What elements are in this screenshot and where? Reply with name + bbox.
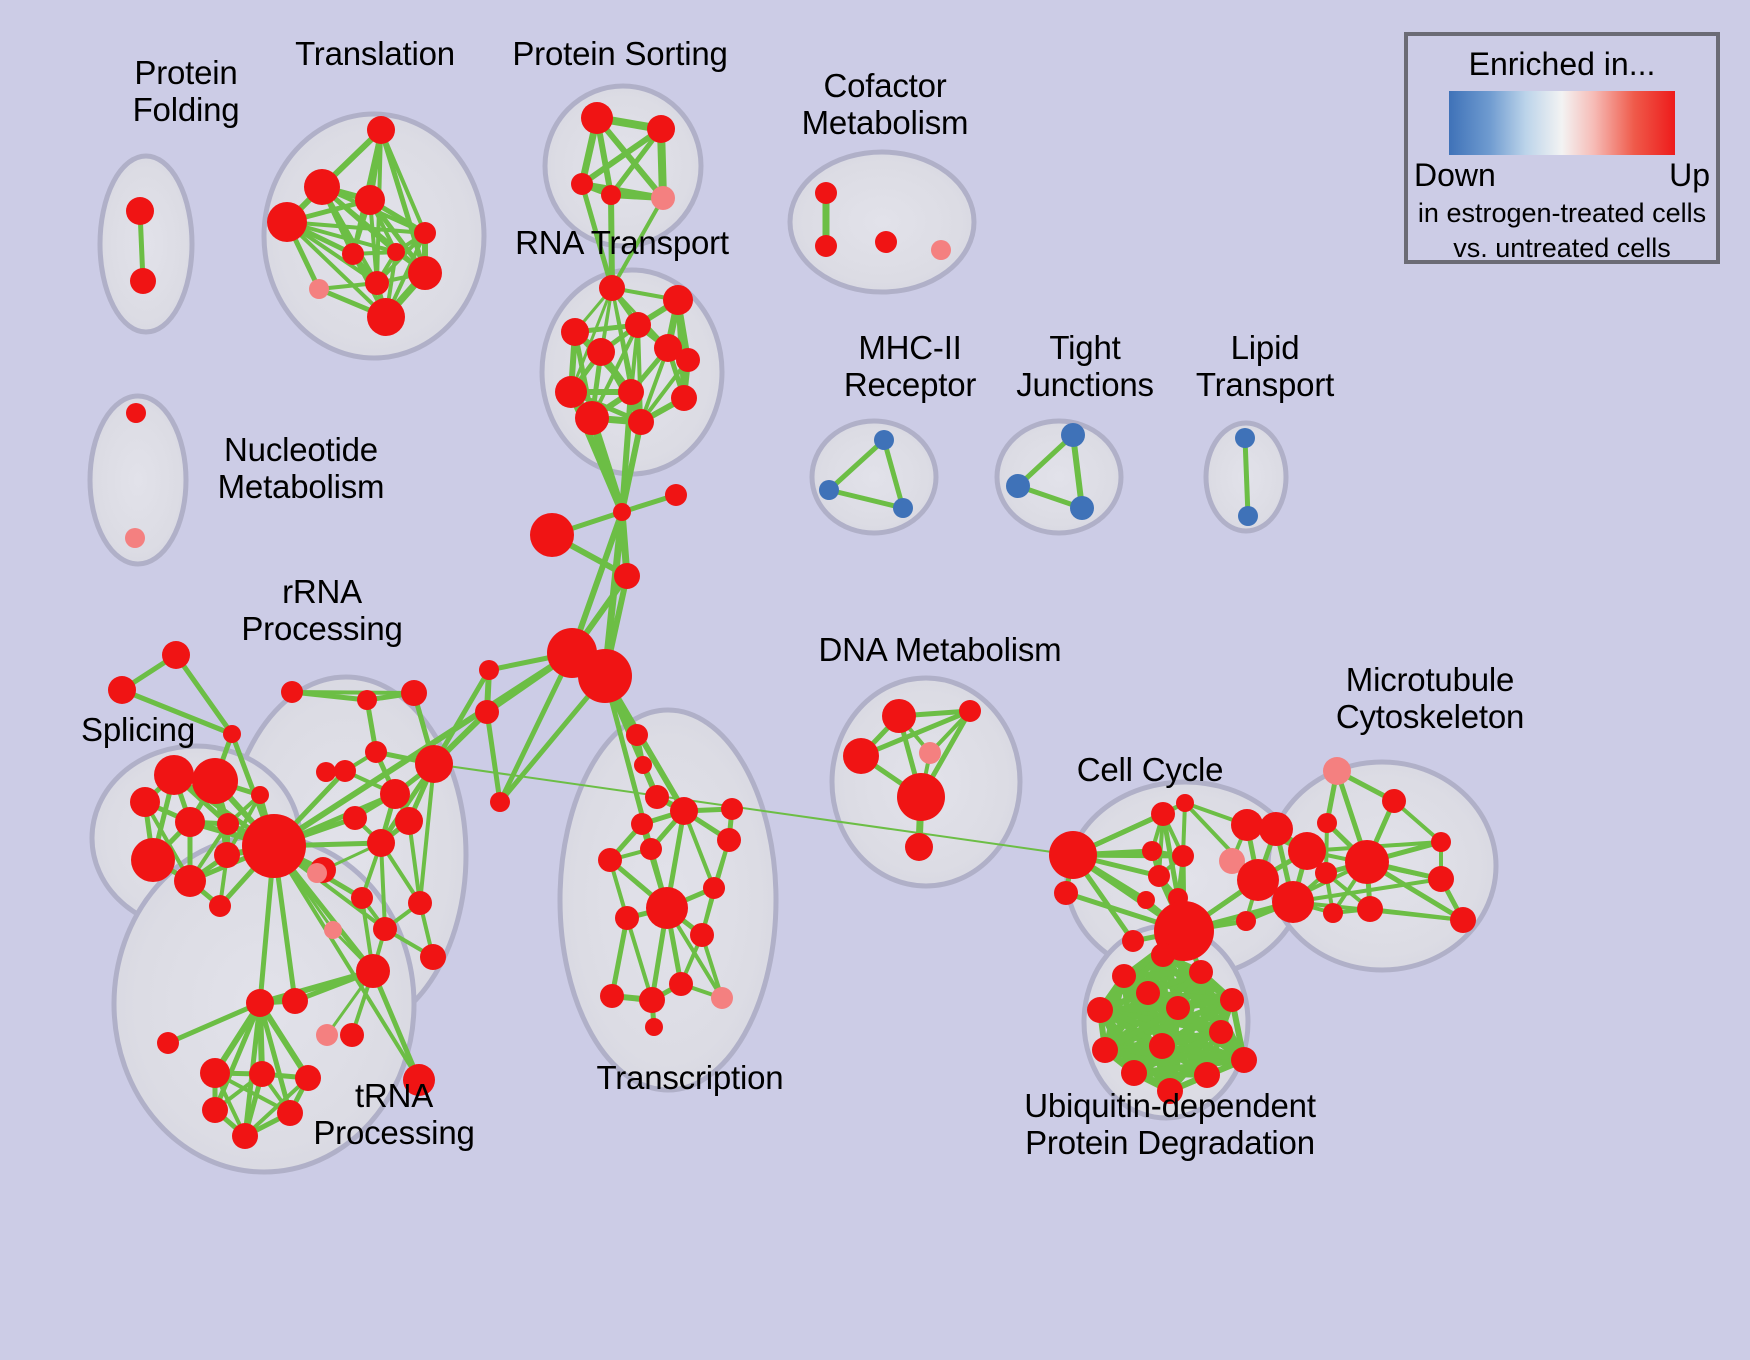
gene-set-node[interactable] [175, 807, 205, 837]
gene-set-node[interactable] [1357, 896, 1383, 922]
gene-set-node[interactable] [703, 877, 725, 899]
gene-set-node[interactable] [1259, 812, 1293, 846]
gene-set-node[interactable] [555, 376, 587, 408]
gene-set-node[interactable] [931, 240, 951, 260]
gene-set-node[interactable] [1112, 964, 1136, 988]
edge [1245, 438, 1248, 516]
gene-set-node[interactable] [351, 887, 373, 909]
gene-set-node[interactable] [690, 923, 714, 947]
legend-up-label: Up [1669, 157, 1710, 194]
gene-set-node[interactable] [1092, 1037, 1118, 1063]
gene-set-node[interactable] [598, 848, 622, 872]
gene-set-node[interactable] [628, 409, 654, 435]
cluster-label-lipid-transport: Lipid Transport [1165, 330, 1365, 404]
gene-set-node[interactable] [357, 690, 377, 710]
gene-set-node[interactable] [882, 699, 916, 733]
gene-set-node[interactable] [599, 275, 625, 301]
gene-set-node[interactable] [1194, 1062, 1220, 1088]
gene-set-node[interactable] [711, 987, 733, 1009]
gene-set-node[interactable] [575, 401, 609, 435]
gene-set-node[interactable] [365, 271, 389, 295]
gene-set-node[interactable] [614, 563, 640, 589]
cluster-label-cell-cycle: Cell Cycle [1030, 752, 1270, 789]
gene-set-node[interactable] [1235, 428, 1255, 448]
gene-set-node[interactable] [625, 312, 651, 338]
cluster-label-tight-junctions: Tight Junctions [985, 330, 1185, 404]
gene-set-node[interactable] [367, 298, 405, 336]
gene-set-node[interactable] [316, 762, 336, 782]
gene-set-node[interactable] [1323, 903, 1343, 923]
gene-set-node[interactable] [676, 348, 700, 372]
gene-set-node[interactable] [1151, 802, 1175, 826]
gene-set-node[interactable] [1323, 757, 1351, 785]
cluster-label-protein-sorting: Protein Sorting [470, 36, 770, 73]
gene-set-node[interactable] [600, 984, 624, 1008]
cluster-label-trna-processing: tRNA Processing [284, 1078, 504, 1152]
gene-set-node[interactable] [615, 906, 639, 930]
gene-set-node[interactable] [334, 760, 356, 782]
gene-set-node[interactable] [130, 787, 160, 817]
gene-set-node[interactable] [897, 773, 945, 821]
gene-set-node[interactable] [647, 115, 675, 143]
gene-set-node[interactable] [1382, 789, 1406, 813]
legend-color-bar [1449, 91, 1675, 155]
cluster-ellipse-protein-folding [100, 156, 192, 332]
cluster-label-nucleotide-metabolism: Nucleotide Metabolism [186, 432, 416, 506]
gene-set-node[interactable] [1236, 911, 1256, 931]
gene-set-node[interactable] [1231, 809, 1263, 841]
gene-set-node[interactable] [601, 185, 621, 205]
gene-set-node[interactable] [717, 828, 741, 852]
edge [292, 692, 414, 693]
gene-set-node[interactable] [251, 786, 269, 804]
cluster-label-cofactor-metabolism: Cofactor Metabolism [770, 68, 1000, 142]
gene-set-node[interactable] [1136, 981, 1160, 1005]
gene-set-node[interactable] [1345, 840, 1389, 884]
gene-set-node[interactable] [282, 988, 308, 1014]
gene-set-node[interactable] [125, 528, 145, 548]
legend-subtitle-line2: vs. untreated cells [1408, 233, 1716, 264]
gene-set-node[interactable] [1238, 506, 1258, 526]
gene-set-node[interactable] [192, 758, 238, 804]
gene-set-node[interactable] [1121, 1060, 1147, 1086]
gene-set-node[interactable] [304, 169, 340, 205]
gene-set-node[interactable] [651, 186, 675, 210]
gene-set-node[interactable] [342, 243, 364, 265]
gene-set-node[interactable] [401, 680, 427, 706]
gene-set-node[interactable] [843, 738, 879, 774]
gene-set-node[interactable] [131, 838, 175, 882]
cluster-ellipse-protein-sorting [545, 86, 701, 246]
gene-set-node[interactable] [365, 741, 387, 763]
gene-set-node[interactable] [267, 202, 307, 242]
gene-set-node[interactable] [1189, 960, 1213, 984]
gene-set-node[interactable] [367, 116, 395, 144]
gene-set-node[interactable] [209, 895, 231, 917]
legend-title: Enriched in... [1408, 46, 1716, 83]
gene-set-node[interactable] [578, 649, 632, 703]
gene-set-node[interactable] [387, 243, 405, 261]
gene-set-node[interactable] [639, 987, 665, 1013]
gene-set-node[interactable] [874, 430, 894, 450]
gene-set-node[interactable] [340, 1023, 364, 1047]
gene-set-node[interactable] [415, 745, 453, 783]
gene-set-node[interactable] [1315, 862, 1337, 884]
gene-set-node[interactable] [1431, 832, 1451, 852]
gene-set-node[interactable] [214, 842, 240, 868]
gene-set-node[interactable] [671, 385, 697, 411]
gene-set-node[interactable] [1087, 997, 1113, 1023]
gene-set-node[interactable] [232, 1123, 258, 1149]
gene-set-node[interactable] [420, 944, 446, 970]
gene-set-node[interactable] [202, 1097, 228, 1123]
gene-set-node[interactable] [475, 700, 499, 724]
figure-canvas: Protein FoldingTranslationProtein Sortin… [0, 0, 1750, 1360]
gene-set-node[interactable] [367, 829, 395, 857]
gene-set-node[interactable] [108, 676, 136, 704]
gene-set-node[interactable] [819, 480, 839, 500]
cluster-label-splicing: Splicing [38, 712, 238, 749]
gene-set-node[interactable] [1137, 891, 1155, 909]
gene-set-node[interactable] [408, 256, 442, 290]
gene-set-node[interactable] [634, 756, 652, 774]
gene-set-node[interactable] [1061, 423, 1085, 447]
gene-set-node[interactable] [355, 185, 385, 215]
gene-set-node[interactable] [479, 660, 499, 680]
cluster-label-transcription: Transcription [560, 1060, 820, 1097]
legend-down-label: Down [1414, 157, 1496, 194]
gene-set-node[interactable] [1166, 996, 1190, 1020]
gene-set-node[interactable] [665, 484, 687, 506]
gene-set-node[interactable] [1142, 841, 1162, 861]
gene-set-node[interactable] [1172, 845, 1194, 867]
gene-set-node[interactable] [414, 222, 436, 244]
cluster-label-microtubule-cytoskeleton: Microtubule Cytoskeleton [1290, 662, 1570, 736]
gene-set-node[interactable] [1272, 881, 1314, 923]
gene-set-node[interactable] [1149, 1033, 1175, 1059]
gene-set-node[interactable] [324, 921, 342, 939]
cluster-ellipse-mhc-ii-receptor [812, 421, 936, 533]
gene-set-node[interactable] [875, 231, 897, 253]
legend-subtitle-line1: in estrogen-treated cells [1408, 198, 1716, 229]
gene-set-node[interactable] [905, 833, 933, 861]
gene-set-node[interactable] [1151, 943, 1175, 967]
gene-set-node[interactable] [1006, 474, 1030, 498]
gene-set-node[interactable] [919, 742, 941, 764]
gene-set-node[interactable] [307, 863, 327, 883]
gene-set-node[interactable] [162, 641, 190, 669]
legend-endpoints: Down Up [1408, 157, 1716, 194]
gene-set-node[interactable] [157, 1032, 179, 1054]
gene-set-node[interactable] [669, 972, 693, 996]
gene-set-node[interactable] [373, 917, 397, 941]
gene-set-node[interactable] [1317, 813, 1337, 833]
gene-set-node[interactable] [587, 338, 615, 366]
gene-set-node[interactable] [1070, 496, 1094, 520]
gene-set-node[interactable] [571, 173, 593, 195]
gene-set-node[interactable] [130, 268, 156, 294]
gene-set-node[interactable] [395, 807, 423, 835]
gene-set-node[interactable] [408, 891, 432, 915]
gene-set-node[interactable] [631, 813, 653, 835]
gene-set-node[interactable] [1450, 907, 1476, 933]
gene-set-node[interactable] [1220, 988, 1244, 1012]
gene-set-node[interactable] [1237, 859, 1279, 901]
gene-set-node[interactable] [1122, 930, 1144, 952]
gene-set-node[interactable] [200, 1058, 230, 1088]
gene-set-node[interactable] [1231, 1047, 1257, 1073]
gene-set-node[interactable] [1054, 881, 1078, 905]
legend-box: Enriched in... Down Up in estrogen-treat… [1404, 32, 1720, 264]
gene-set-node[interactable] [356, 954, 390, 988]
gene-set-node[interactable] [1209, 1020, 1233, 1044]
gene-set-node[interactable] [646, 887, 688, 929]
gene-set-node[interactable] [959, 700, 981, 722]
gene-set-node[interactable] [815, 182, 837, 204]
gene-set-node[interactable] [343, 806, 367, 830]
gene-set-node[interactable] [645, 785, 669, 809]
gene-set-node[interactable] [640, 838, 662, 860]
gene-set-node[interactable] [380, 779, 410, 809]
gene-set-node[interactable] [174, 865, 206, 897]
gene-set-node[interactable] [281, 681, 303, 703]
gene-set-node[interactable] [126, 197, 154, 225]
gene-set-node[interactable] [663, 285, 693, 315]
gene-set-node[interactable] [126, 403, 146, 423]
cluster-label-rna-transport: RNA Transport [472, 225, 772, 262]
edge [487, 712, 500, 802]
gene-set-node[interactable] [815, 235, 837, 257]
gene-set-node[interactable] [670, 797, 698, 825]
gene-set-node[interactable] [249, 1061, 275, 1087]
gene-set-node[interactable] [618, 379, 644, 405]
gene-set-node[interactable] [626, 724, 648, 746]
cluster-label-ubiquitin-degradation: Ubiquitin-dependent Protein Degradation [970, 1088, 1370, 1162]
gene-set-node[interactable] [613, 503, 631, 521]
cluster-ellipse-cofactor-metabolism [790, 152, 974, 292]
gene-set-node[interactable] [645, 1018, 663, 1036]
cluster-label-dna-metabolism: DNA Metabolism [790, 632, 1090, 669]
gene-set-node[interactable] [893, 498, 913, 518]
gene-set-node[interactable] [1148, 865, 1170, 887]
gene-set-node[interactable] [1049, 831, 1097, 879]
gene-set-node[interactable] [530, 513, 574, 557]
gene-set-node[interactable] [561, 318, 589, 346]
gene-set-node[interactable] [217, 813, 239, 835]
gene-set-node[interactable] [246, 989, 274, 1017]
gene-set-node[interactable] [309, 279, 329, 299]
gene-set-node[interactable] [316, 1024, 338, 1046]
gene-set-node[interactable] [721, 798, 743, 820]
cluster-label-rrna-processing: rRNA Processing [212, 574, 432, 648]
gene-set-node[interactable] [242, 814, 306, 878]
gene-set-node[interactable] [154, 755, 194, 795]
gene-set-node[interactable] [1176, 794, 1194, 812]
gene-set-node[interactable] [581, 102, 613, 134]
gene-set-node[interactable] [490, 792, 510, 812]
gene-set-node[interactable] [1428, 866, 1454, 892]
